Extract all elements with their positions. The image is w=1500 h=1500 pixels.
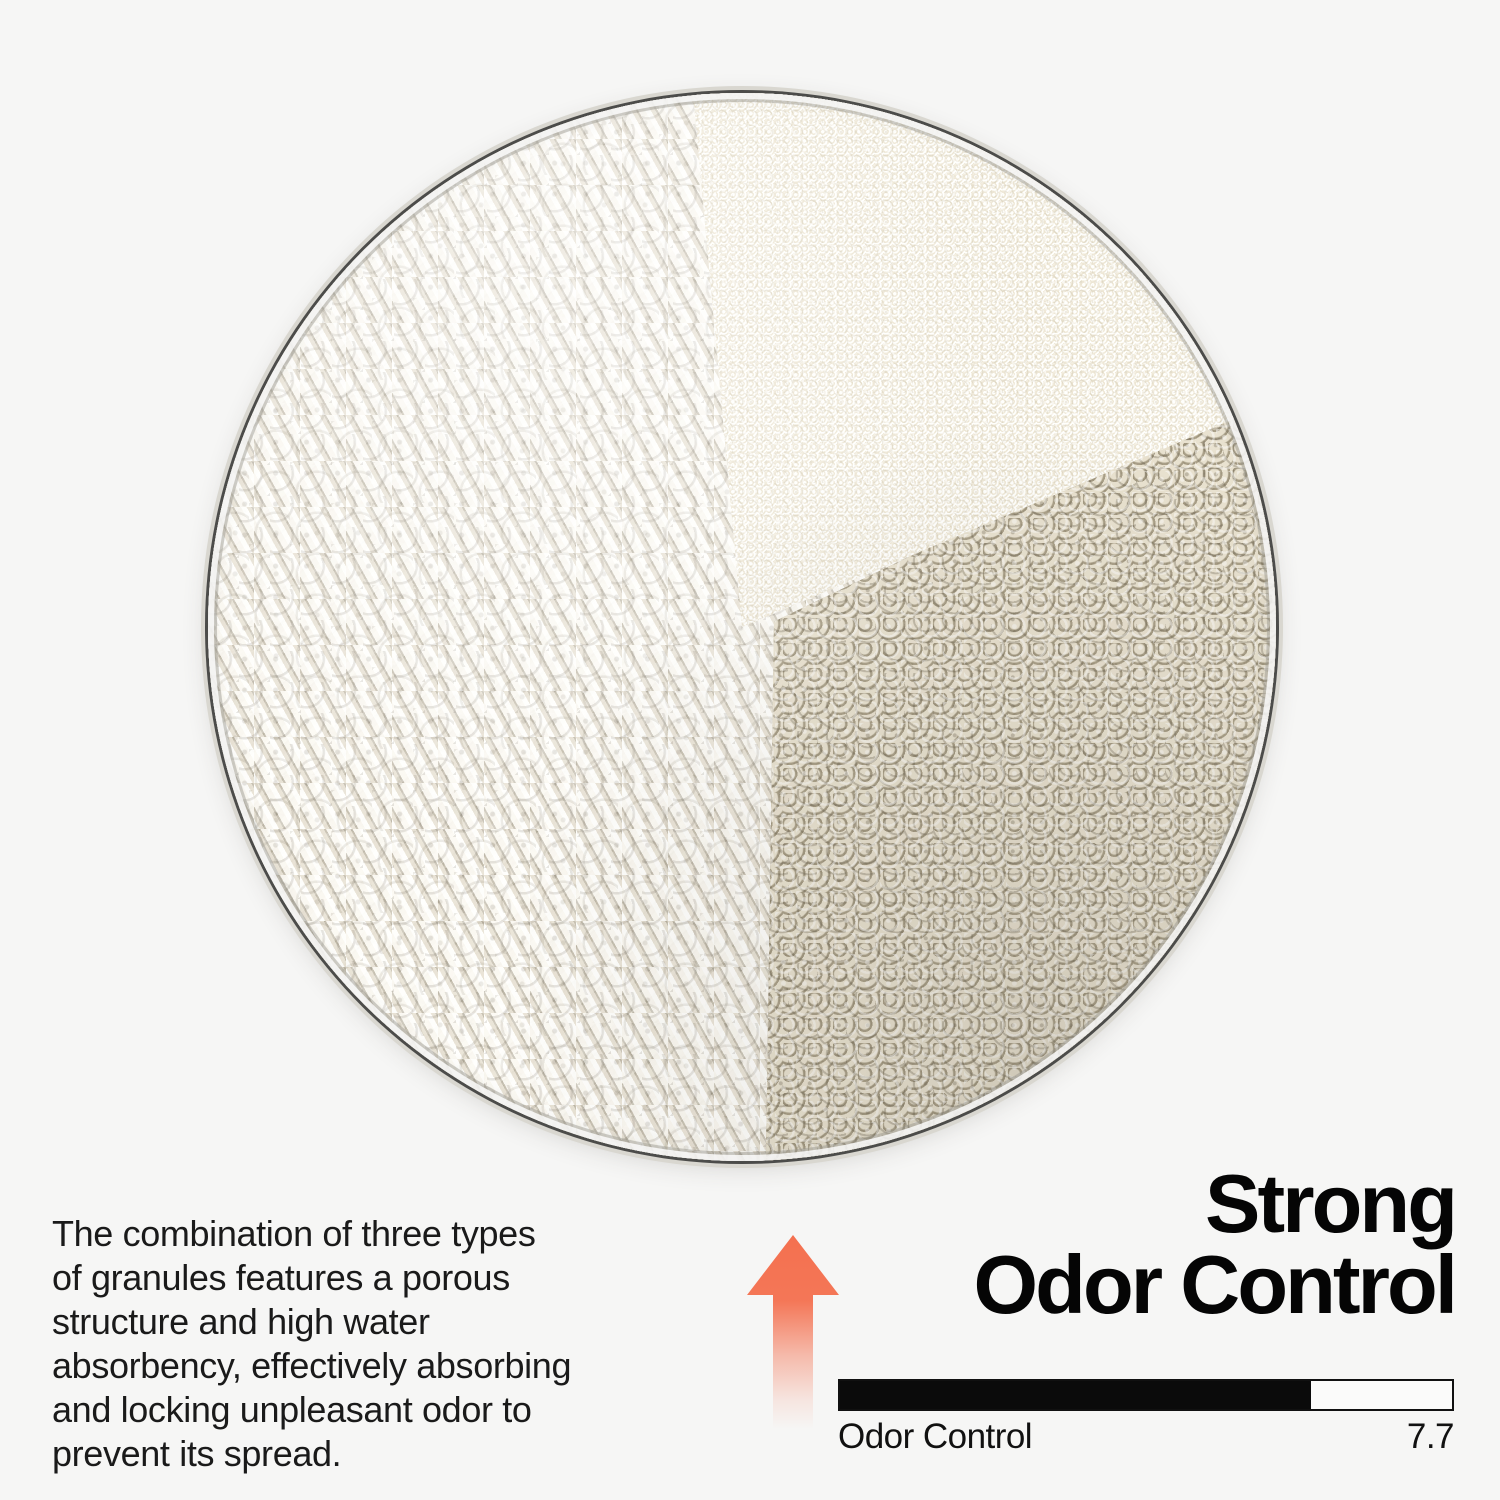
petri-dish <box>208 93 1276 1161</box>
product-feature-page: The combination of three types of granul… <box>0 0 1500 1500</box>
headline-line-1: Strong <box>1205 1157 1455 1250</box>
rating-value: 7.7 <box>1407 1419 1454 1454</box>
rating-meter: Odor Control 7.7 <box>838 1379 1454 1454</box>
rating-legend: Odor Control 7.7 <box>838 1419 1454 1454</box>
rating-label: Odor Control <box>838 1419 1032 1454</box>
rating-bar-fill <box>840 1381 1311 1409</box>
up-arrow-icon <box>745 1233 841 1429</box>
rating-bar-track <box>838 1379 1454 1411</box>
description-paragraph: The combination of three types of granul… <box>52 1212 572 1475</box>
product-photo <box>208 93 1276 1161</box>
